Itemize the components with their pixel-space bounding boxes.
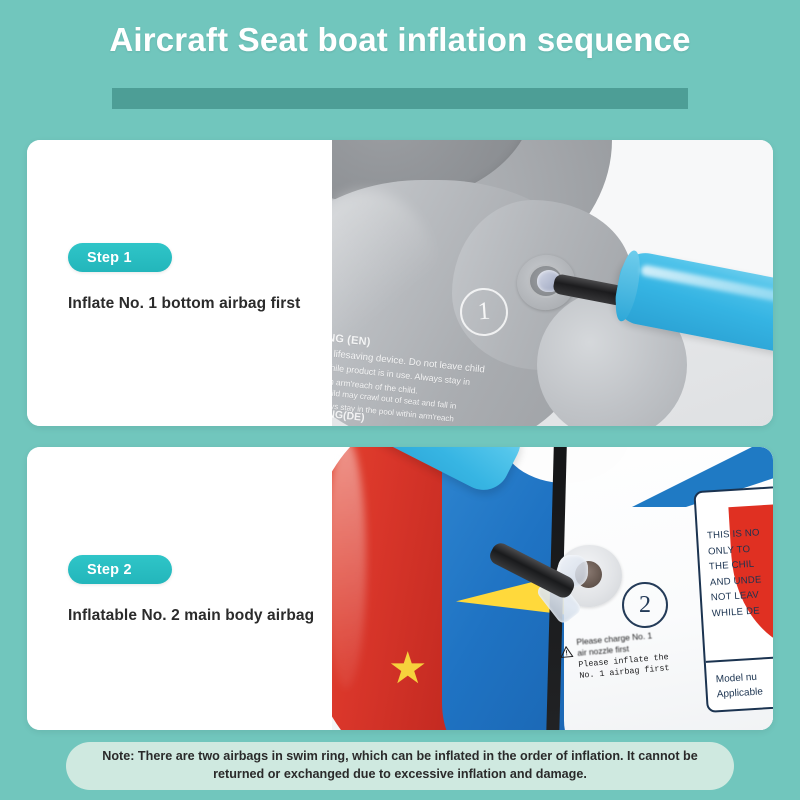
warning-triangle-icon bbox=[560, 645, 574, 658]
step-1-badge-label: Step 1 bbox=[87, 250, 132, 266]
boat-warning-label: △ THIS IS NO ONLY TO THE CHIL AND UNDE N… bbox=[693, 483, 773, 713]
title-highlight-bar bbox=[112, 88, 688, 109]
airbag-number-2-marker: 2 bbox=[622, 582, 668, 628]
step-card-2[interactable]: Step 2 Inflatable No. 2 main body airbag bbox=[27, 447, 773, 730]
step-1-caption: Inflate No. 1 bottom airbag first bbox=[68, 295, 358, 313]
step-1-photo: 1 NG (EN) a lifesaving device. Do not le… bbox=[332, 140, 773, 426]
step-1-badge: Step 1 bbox=[68, 243, 172, 272]
warning-label-divider bbox=[706, 653, 773, 663]
step-2-photo: 2 Please charge No. 1 air nozzle first P… bbox=[332, 447, 773, 730]
step-2-badge-label: Step 2 bbox=[87, 562, 132, 578]
bottom-note-banner: Note: There are two airbags in swim ring… bbox=[66, 742, 734, 790]
title-text: Aircraft Seat boat inflation sequence bbox=[0, 18, 800, 62]
warning-label-bottom-text: Model nu Applicable bbox=[715, 669, 763, 702]
boat-red-highlight bbox=[332, 447, 366, 689]
page-title: Aircraft Seat boat inflation sequence bbox=[0, 18, 800, 62]
warning-label-line-1: THIS IS NO bbox=[707, 525, 760, 544]
infographic-page: Aircraft Seat boat inflation sequence St… bbox=[0, 0, 800, 800]
step-card-1[interactable]: Step 1 Inflate No. 1 bottom airbag first… bbox=[27, 140, 773, 426]
title-line-1: Aircraft Seat boat inflation bbox=[109, 21, 527, 58]
step-2-caption: Inflatable No. 2 main body airbag bbox=[68, 607, 358, 625]
warning-label-line-6: WHILE DE bbox=[711, 603, 764, 622]
title-line-2: sequence bbox=[537, 21, 691, 58]
step-2-text-panel: Step 2 Inflatable No. 2 main body airbag bbox=[27, 447, 332, 730]
warning-label-text: THIS IS NO ONLY TO THE CHIL AND UNDE NOT… bbox=[707, 525, 765, 621]
step-2-badge: Step 2 bbox=[68, 555, 172, 584]
warning-label-bottom-line-2: Applicable bbox=[716, 684, 763, 702]
bottom-note-text: Note: There are two airbags in swim ring… bbox=[92, 748, 708, 784]
step-1-text-panel: Step 1 Inflate No. 1 bottom airbag first bbox=[27, 140, 332, 426]
